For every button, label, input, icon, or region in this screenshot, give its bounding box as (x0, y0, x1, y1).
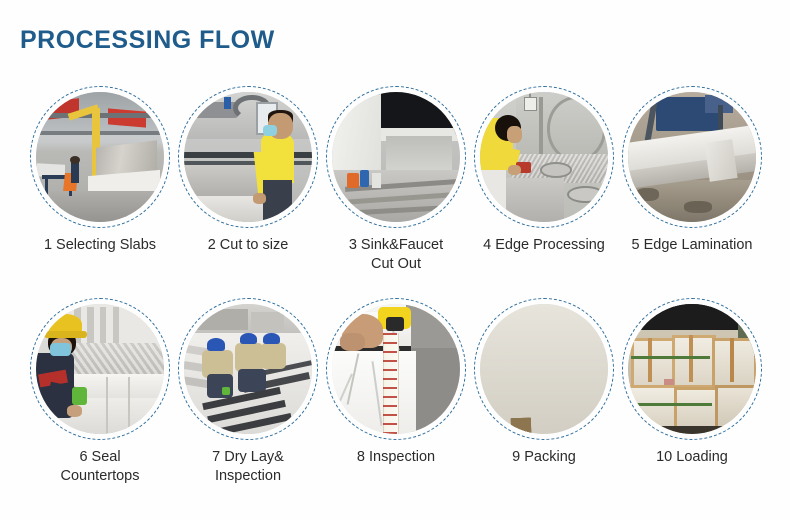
flow-step-5-dashed-ring (622, 86, 762, 228)
flow-step-2-caption: 2 Cut to size (168, 236, 328, 255)
flow-step-9[interactable]: 9 Packing (470, 298, 618, 486)
flow-step-9-caption: 9 Packing (464, 448, 624, 467)
flow-step-10-bubble[interactable] (622, 298, 762, 440)
flow-step-6-bubble[interactable] (30, 298, 170, 440)
flow-step-4-bubble[interactable] (474, 86, 614, 228)
flow-step-1[interactable]: 1 Selecting Slabs (26, 86, 174, 274)
flow-step-1-caption: 1 Selecting Slabs (20, 236, 180, 255)
flow-step-7[interactable]: 7 Dry Lay& Inspection (174, 298, 322, 486)
flow-step-6-dashed-ring (30, 298, 170, 440)
flow-step-10-caption: 10 Loading (612, 448, 772, 467)
flow-step-9-dashed-ring (474, 298, 614, 440)
flow-step-3-bubble[interactable] (326, 86, 466, 228)
flow-step-2[interactable]: 2 Cut to size (174, 86, 322, 274)
flow-step-7-bubble[interactable] (178, 298, 318, 440)
flow-step-5-bubble[interactable] (622, 86, 762, 228)
flow-step-10-dashed-ring (622, 298, 762, 440)
flow-step-4-caption: 4 Edge Processing (464, 236, 624, 255)
flow-row-2: 6 Seal Countertops (0, 298, 790, 486)
flow-step-9-bubble[interactable] (474, 298, 614, 440)
flow-step-8-bubble[interactable] (326, 298, 466, 440)
flow-step-1-dashed-ring (30, 86, 170, 228)
flow-step-8-caption: 8 Inspection (316, 448, 476, 467)
flow-step-3-caption: 3 Sink&Faucet Cut Out (316, 236, 476, 274)
flow-step-4-dashed-ring (474, 86, 614, 228)
page-title: PROCESSING FLOW (20, 26, 275, 55)
flow-step-1-bubble[interactable] (30, 86, 170, 228)
flow-step-10[interactable]: 10 Loading (618, 298, 766, 486)
flow-step-5[interactable]: 5 Edge Lamination (618, 86, 766, 274)
flow-step-7-caption: 7 Dry Lay& Inspection (168, 448, 328, 486)
processing-flow-page: PROCESSING FLOW (0, 0, 790, 520)
flow-step-2-bubble[interactable] (178, 86, 318, 228)
flow-row-1: 1 Selecting Slabs 2 Cut to si (0, 86, 790, 274)
flow-step-3[interactable]: 3 Sink&Faucet Cut Out (322, 86, 470, 274)
flow-step-7-dashed-ring (178, 298, 318, 440)
flow-step-8[interactable]: 8 Inspection (322, 298, 470, 486)
flow-step-2-dashed-ring (178, 86, 318, 228)
flow-step-6-caption: 6 Seal Countertops (20, 448, 180, 486)
flow-step-4[interactable]: 4 Edge Processing (470, 86, 618, 274)
flow-step-3-dashed-ring (326, 86, 466, 228)
flow-step-6[interactable]: 6 Seal Countertops (26, 298, 174, 486)
flow-step-8-dashed-ring (326, 298, 466, 440)
flow-step-5-caption: 5 Edge Lamination (612, 236, 772, 255)
